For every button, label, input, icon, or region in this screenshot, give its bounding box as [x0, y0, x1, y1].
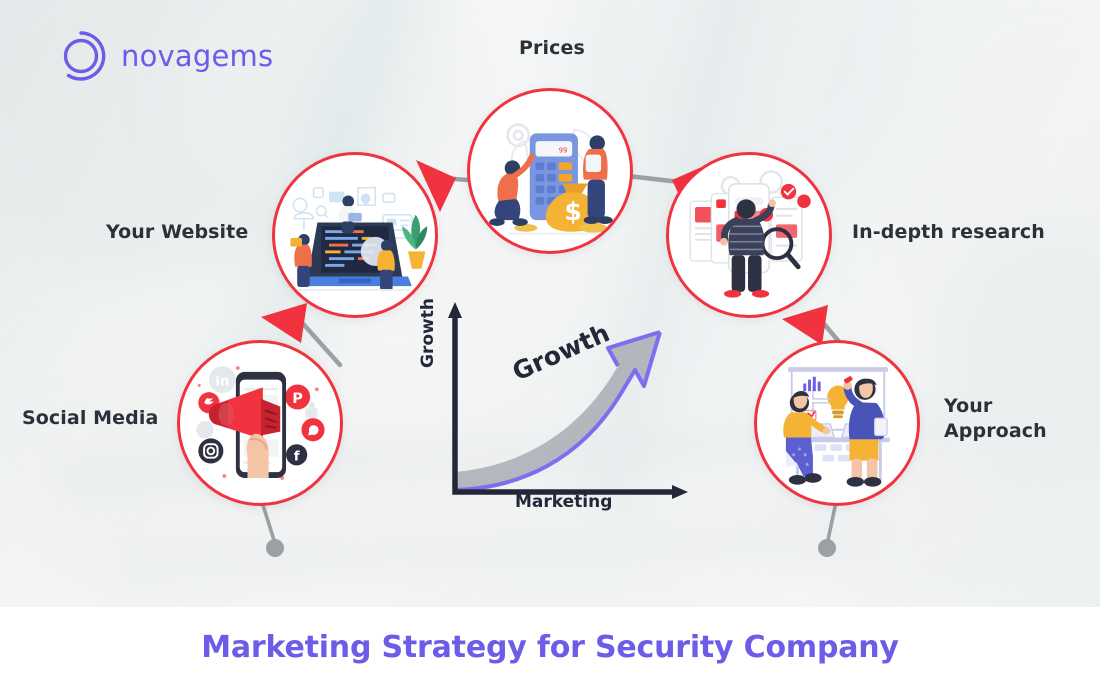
label-in-depth-research: In-depth research	[852, 220, 1045, 245]
megaphone-phone-social-illustration: in P f	[180, 343, 340, 503]
svg-text:99: 99	[559, 147, 568, 155]
node-social-media[interactable]: in P f	[177, 340, 343, 506]
infographic-canvas: novagems Growth Marketin	[0, 0, 1100, 700]
user-icon	[196, 421, 213, 438]
chart-x-axis-label: Marketing	[515, 492, 612, 512]
brand-logo-text: novagems	[121, 39, 273, 73]
label-your-website: Your Website	[106, 220, 248, 245]
pin-your-approach	[812, 500, 852, 562]
svg-text:P: P	[292, 391, 303, 407]
page-title: Marketing Strategy for Security Company	[0, 630, 1100, 665]
growth-chart	[430, 300, 700, 520]
ring-logo-icon	[55, 30, 107, 82]
instagram-icon	[198, 438, 223, 463]
label-prices: Prices	[519, 36, 585, 61]
label-your-approach: YourApproach	[944, 394, 1047, 443]
svg-text:$: $	[564, 197, 581, 226]
chart-y-axis-label: Growth	[418, 298, 438, 368]
node-your-website[interactable]	[272, 152, 438, 318]
svg-text:in: in	[215, 373, 229, 389]
pin-social-media	[252, 500, 292, 562]
node-your-approach[interactable]	[754, 340, 920, 506]
laptop-coding-people-illustration	[275, 155, 435, 315]
calculator-money-bag-illustration: 99 $	[470, 91, 630, 251]
node-prices[interactable]: 99 $	[467, 88, 633, 254]
label-social-media: Social Media	[22, 406, 158, 431]
node-in-depth-research[interactable]	[666, 152, 832, 318]
man-analyzing-screens-magnifier-illustration	[669, 155, 829, 315]
svg-text:f: f	[294, 449, 300, 465]
team-whiteboard-lightbulb-illustration	[757, 343, 917, 503]
brand-logo[interactable]: novagems	[55, 30, 273, 82]
